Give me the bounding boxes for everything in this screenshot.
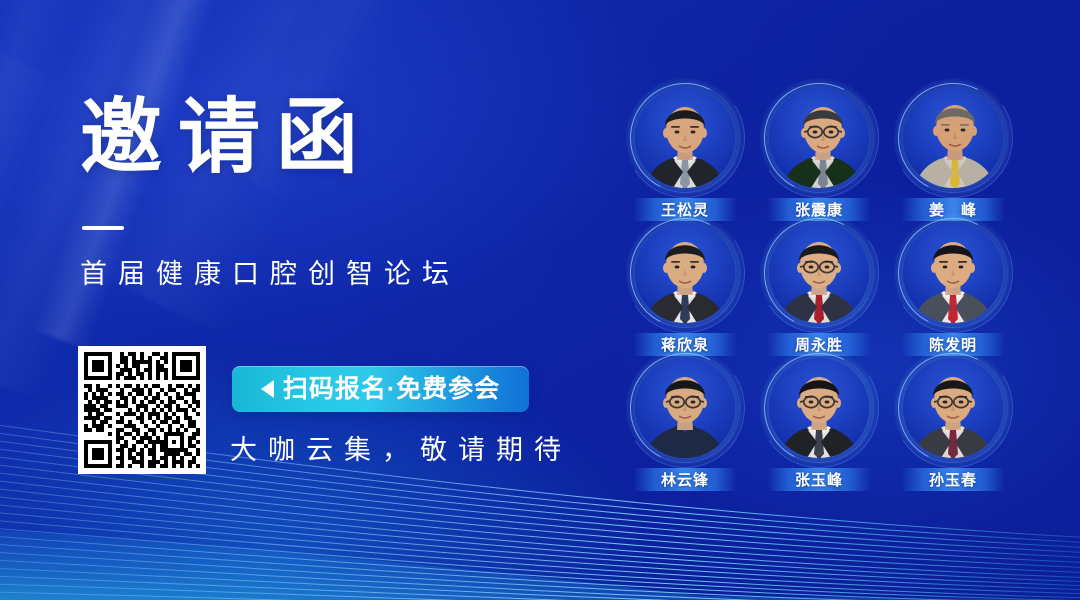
- avatar-outer-ring-icon: [882, 337, 1024, 479]
- avatar-outer-ring-icon: [614, 67, 756, 209]
- speaker-name: 孙玉春: [929, 469, 977, 490]
- register-button-label: 扫码报名·免费参会: [283, 377, 500, 402]
- tagline: 大咖云集，敬请期待: [230, 428, 572, 467]
- speaker-card[interactable]: 姜 峰: [886, 88, 1020, 223]
- speaker-card[interactable]: 张震康: [752, 88, 886, 223]
- avatar: [635, 358, 735, 458]
- avatar-outer-ring-icon: [614, 337, 756, 479]
- avatar: [769, 88, 869, 188]
- speaker-card[interactable]: 陈发明: [886, 223, 1020, 358]
- avatar-outer-ring-icon: [614, 202, 756, 344]
- avatar: [903, 358, 1003, 458]
- invitation-poster: 邀请函 首届健康口腔创智论坛: [0, 0, 1080, 600]
- speaker-card[interactable]: 蒋欣泉: [618, 223, 752, 358]
- speaker-card[interactable]: 周永胜: [752, 223, 886, 358]
- title-divider: [82, 226, 124, 230]
- avatar-outer-ring-icon: [748, 337, 890, 479]
- speaker-nameplate: 孙玉春: [901, 468, 1005, 491]
- avatar: [903, 88, 1003, 188]
- avatar: [769, 358, 869, 458]
- speaker-grid: 王松灵: [618, 88, 1018, 493]
- speaker-card[interactable]: 林云锋: [618, 358, 752, 493]
- speaker-nameplate: 张玉峰: [767, 468, 871, 491]
- triangle-left-icon: [261, 380, 274, 398]
- avatar: [635, 88, 735, 188]
- avatar: [769, 223, 869, 323]
- register-button[interactable]: 扫码报名·免费参会: [232, 366, 529, 412]
- registration-block: 扫码报名·免费参会 大咖云集，敬请期待: [78, 346, 588, 476]
- headline-block: 邀请函 首届健康口腔创智论坛: [80, 96, 580, 291]
- avatar-outer-ring-icon: [748, 67, 890, 209]
- avatar-outer-ring-icon: [882, 202, 1024, 344]
- speaker-nameplate: 林云锋: [633, 468, 737, 491]
- event-subtitle: 首届健康口腔创智论坛: [80, 252, 580, 291]
- speaker-name: 张玉峰: [795, 469, 843, 490]
- page-title: 邀请函: [80, 96, 580, 180]
- speaker-name: 林云锋: [661, 469, 709, 490]
- avatar: [903, 223, 1003, 323]
- avatar-outer-ring-icon: [882, 67, 1024, 209]
- speaker-card[interactable]: 孙玉春: [886, 358, 1020, 493]
- qr-code-icon[interactable]: [78, 346, 206, 474]
- speaker-card[interactable]: 王松灵: [618, 88, 752, 223]
- avatar-outer-ring-icon: [748, 202, 890, 344]
- avatar: [635, 223, 735, 323]
- speaker-card[interactable]: 张玉峰: [752, 358, 886, 493]
